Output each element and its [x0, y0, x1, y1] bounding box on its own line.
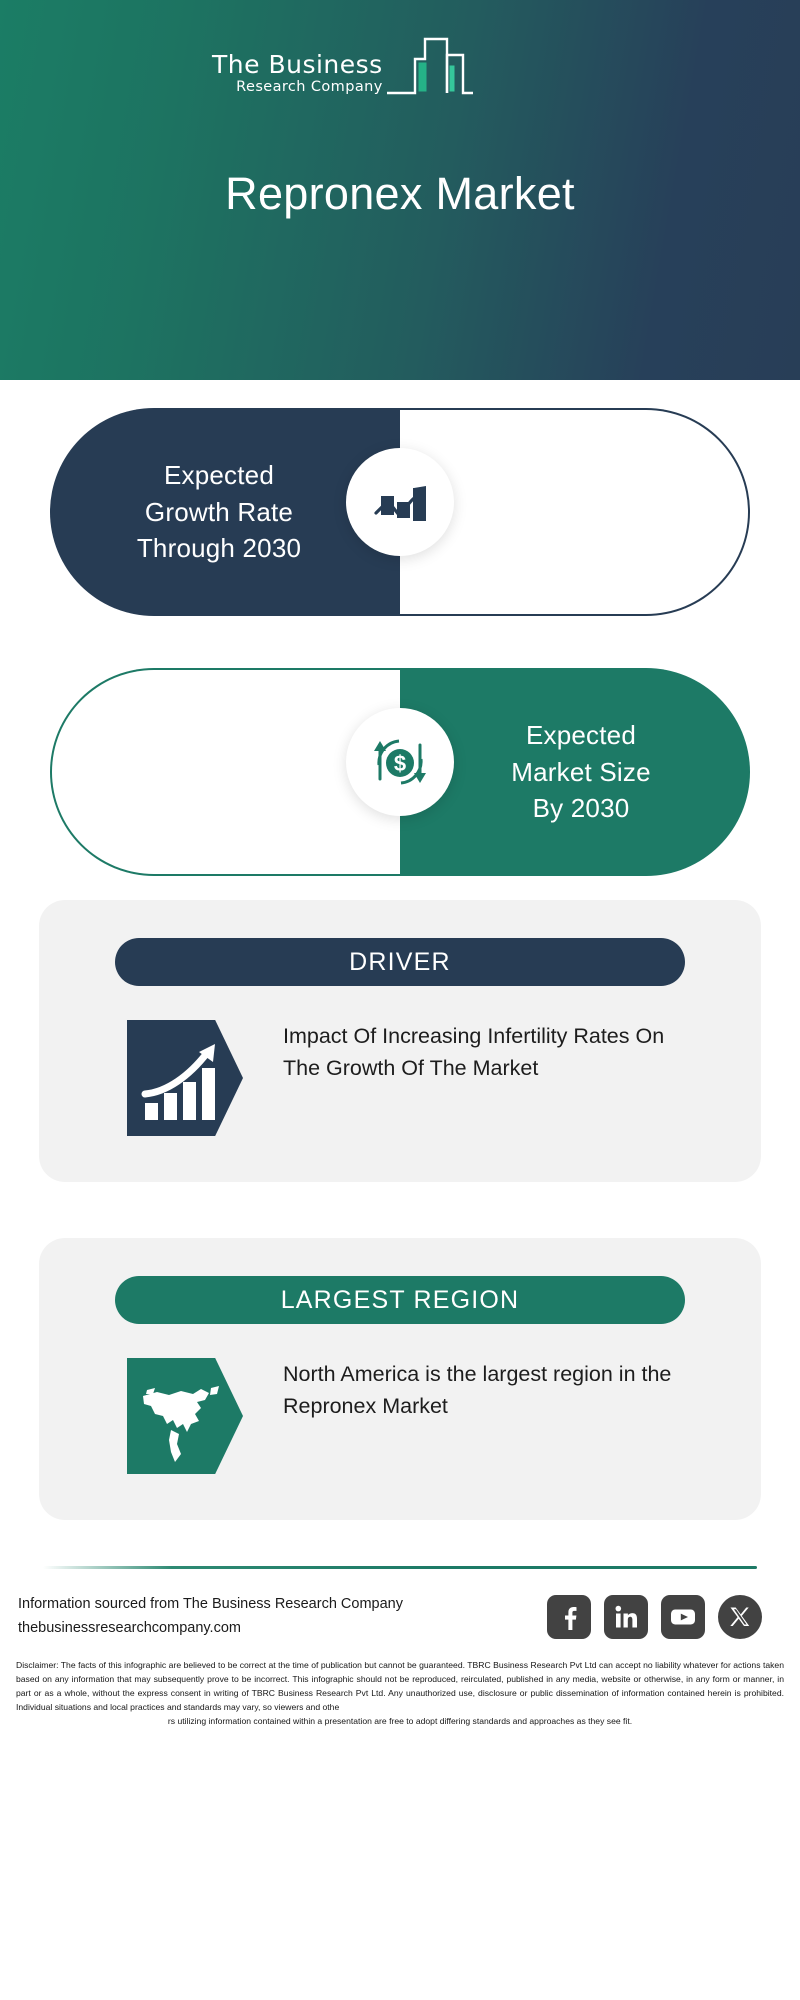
driver-tag-label: DRIVER: [349, 948, 451, 977]
stat-card-growth-rate: Expected Growth Rate Through 2030: [0, 380, 800, 640]
footer-row: Information sourced from The Business Re…: [0, 1569, 800, 1641]
largest-region-panel: LARGEST REGION North America is the larg…: [39, 1238, 761, 1520]
footer-website[interactable]: thebusinessresearchcompany.com: [18, 1617, 403, 1641]
footer: Information sourced from The Business Re…: [0, 1520, 800, 1728]
growth-rate-label-line-2: Growth Rate: [145, 494, 293, 531]
rising-bar-chart-arrow-icon: [127, 1020, 243, 1136]
market-size-label-line-2: Market Size: [511, 754, 650, 791]
logo-line-1: The Business: [212, 52, 383, 78]
stat-card-market-size: Expected Market Size By 2030 $: [0, 640, 800, 900]
driver-tag: DRIVER: [115, 938, 685, 986]
logo-wordmark: The Business Research Company: [212, 52, 383, 108]
driver-glyph: [127, 1020, 243, 1136]
logo-line-2: Research Company: [236, 78, 383, 96]
largest-region-row: North America is the largest region in t…: [39, 1324, 761, 1474]
market-size-pill: Expected Market Size By 2030 $: [50, 668, 750, 876]
growth-rate-label-line-1: Expected: [164, 457, 274, 494]
footer-source-line: Information sourced from The Business Re…: [18, 1593, 403, 1617]
header-banner: The Business Research Company Repronex M…: [0, 0, 800, 380]
panel-gap: [0, 1182, 800, 1238]
page-title: Repronex Market: [0, 168, 800, 220]
dollar-cycle-icon: $: [346, 708, 454, 816]
north-america-map-icon: [127, 1358, 243, 1474]
social-links: [547, 1595, 762, 1639]
disclaimer: Disclaimer: The facts of this infographi…: [16, 1659, 784, 1729]
bar-chart-logo-mark: [385, 35, 475, 102]
market-size-label-line-3: By 2030: [533, 790, 630, 827]
largest-region-tag-label: LARGEST REGION: [281, 1286, 520, 1315]
largest-region-tag: LARGEST REGION: [115, 1276, 685, 1324]
growth-rate-pill: Expected Growth Rate Through 2030: [50, 408, 750, 616]
svg-text:$: $: [394, 751, 406, 776]
disclaimer-last-line: rs utilizing information contained withi…: [16, 1715, 784, 1729]
x-twitter-icon[interactable]: [718, 1595, 762, 1639]
facebook-icon[interactable]: [547, 1595, 591, 1639]
driver-panel: DRIVER Impact Of Increasing Infertility …: [39, 900, 761, 1182]
driver-text: Impact Of Increasing Infertility Rates O…: [283, 1020, 683, 1085]
company-logo: The Business Research Company: [212, 22, 512, 108]
region-glyph: [127, 1358, 243, 1474]
largest-region-text: North America is the largest region in t…: [283, 1358, 683, 1423]
infographic-page: The Business Research Company Repronex M…: [0, 0, 800, 2000]
footer-source: Information sourced from The Business Re…: [18, 1593, 403, 1641]
growth-chart-icon: [346, 448, 454, 556]
youtube-icon[interactable]: [661, 1595, 705, 1639]
driver-row: Impact Of Increasing Infertility Rates O…: [39, 986, 761, 1136]
disclaimer-body: Disclaimer: The facts of this infographi…: [16, 1660, 784, 1712]
growth-rate-label-line-3: Through 2030: [137, 530, 301, 567]
market-size-label-line-1: Expected: [526, 717, 636, 754]
linkedin-icon[interactable]: [604, 1595, 648, 1639]
